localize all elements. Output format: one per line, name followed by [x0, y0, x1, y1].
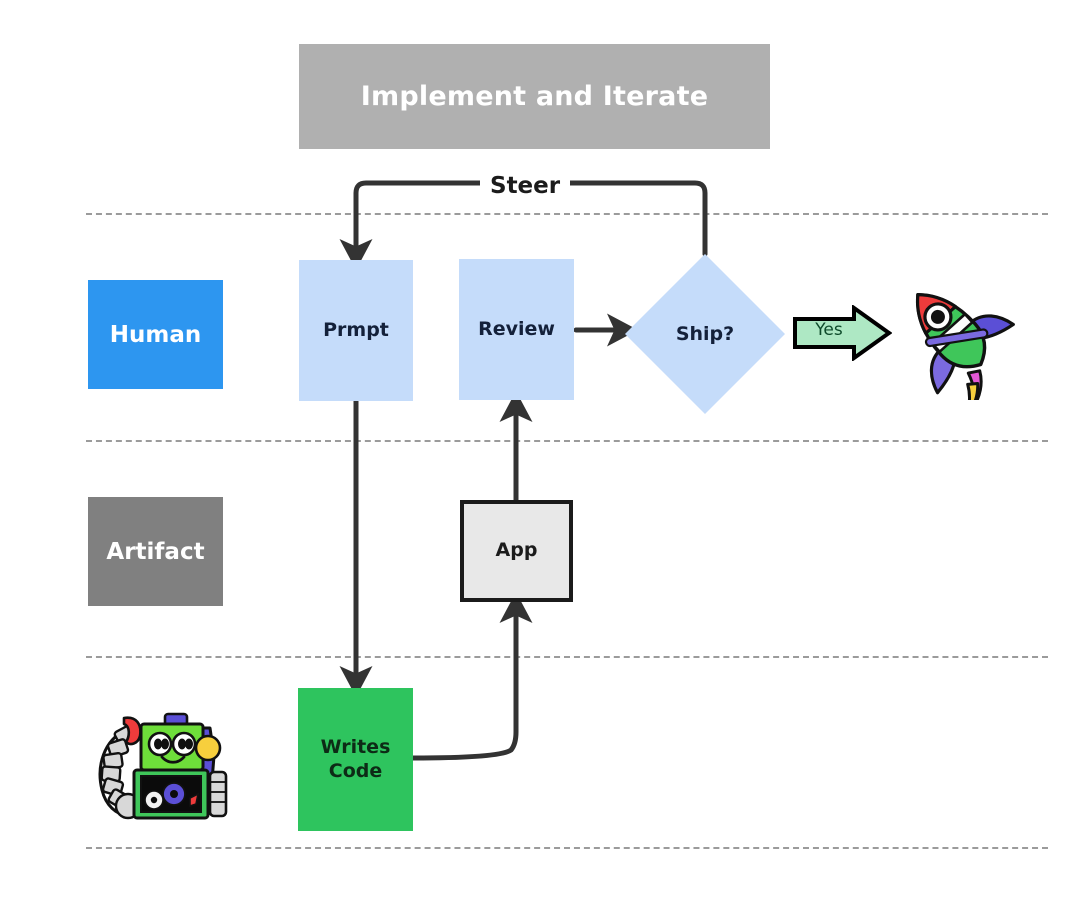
node-writes-code[interactable]: Writes Code — [298, 688, 413, 831]
node-app[interactable]: App — [460, 500, 573, 602]
node-prompt[interactable]: Prmpt — [299, 260, 413, 401]
diagram-title: Implement and Iterate — [361, 81, 708, 112]
node-ship-label: Ship? — [676, 323, 734, 345]
node-app-label: App — [496, 539, 538, 563]
node-ship-label-wrap: Ship? — [625, 254, 785, 414]
robot-icon — [86, 694, 228, 826]
lane-divider-artifact-agent — [86, 656, 1048, 658]
lane-chip-artifact: Artifact — [88, 497, 223, 606]
lane-divider-top — [86, 213, 1048, 215]
node-writes-code-line2: Code — [329, 760, 382, 782]
lane-divider-bottom — [86, 847, 1048, 849]
diagram-canvas: Implement and Iterate Steer Human Artifa… — [0, 0, 1080, 922]
rocket-icon — [893, 274, 1019, 400]
edge-label-steer: Steer — [480, 173, 570, 199]
edge-writes-to-app — [413, 610, 516, 758]
node-prompt-label: Prmpt — [323, 319, 389, 343]
node-writes-code-label: Writes Code — [321, 736, 391, 784]
node-review[interactable]: Review — [459, 259, 574, 400]
node-writes-code-line1: Writes — [321, 736, 391, 758]
diagram-title-banner: Implement and Iterate — [299, 44, 770, 149]
lane-chip-human: Human — [88, 280, 223, 389]
node-review-label: Review — [478, 318, 555, 342]
lane-label-artifact: Artifact — [106, 539, 204, 565]
lane-divider-human-artifact — [86, 440, 1048, 442]
yes-arrow-shape — [792, 305, 892, 361]
node-ship-decision[interactable]: Ship? — [625, 254, 785, 414]
lane-label-human: Human — [110, 322, 201, 348]
edge-yes-arrow: Yes — [792, 305, 892, 361]
